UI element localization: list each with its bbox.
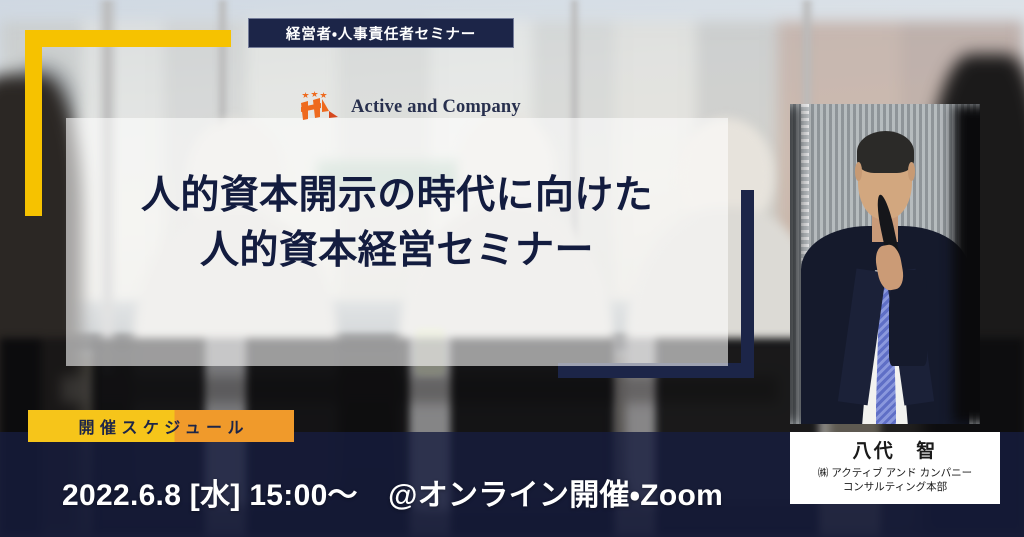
speaker-name-card: 八代 智 ㈱ アクティブ アンド カンパニー コンサルティング本部	[790, 432, 1000, 504]
speaker-ear-left	[855, 162, 863, 181]
company-logo: Active and Company	[296, 91, 521, 123]
speaker-org-line-2: コンサルティング本部	[843, 481, 947, 495]
title-line-1: 人的資本開示の時代に向けた	[66, 168, 728, 223]
page-title: 人的資本開示の時代に向けた 人的資本経営セミナー	[66, 168, 728, 279]
speaker-photo	[790, 104, 980, 424]
speaker-org-line-1: ㈱ アクティブ アンド カンパニー	[818, 467, 972, 481]
audience-banner-label: 経営者・人事責任者セミナー	[286, 23, 476, 44]
schedule-badge-label: 開催スケジュール	[73, 414, 249, 438]
schedule-datetime: 2022.6.8 [水] 15:00〜 @オンライン開催・Zoom	[62, 470, 723, 514]
schedule-badge: 開催スケジュール	[28, 410, 294, 442]
company-logo-text: Active and Company	[351, 97, 521, 118]
photo-shadow-left	[790, 104, 801, 424]
speaker-hair	[857, 131, 914, 173]
active-and-company-mark-icon	[296, 91, 342, 123]
speaker-name: 八代 智	[852, 441, 937, 463]
audience-banner: 経営者・人事責任者セミナー	[248, 18, 514, 48]
seminar-banner-image: 経営者・人事責任者セミナー Active and Company 人的資本開示の…	[0, 0, 1024, 537]
photo-shadow-right	[953, 104, 980, 424]
title-line-2: 人的資本経営セミナー	[66, 223, 728, 278]
